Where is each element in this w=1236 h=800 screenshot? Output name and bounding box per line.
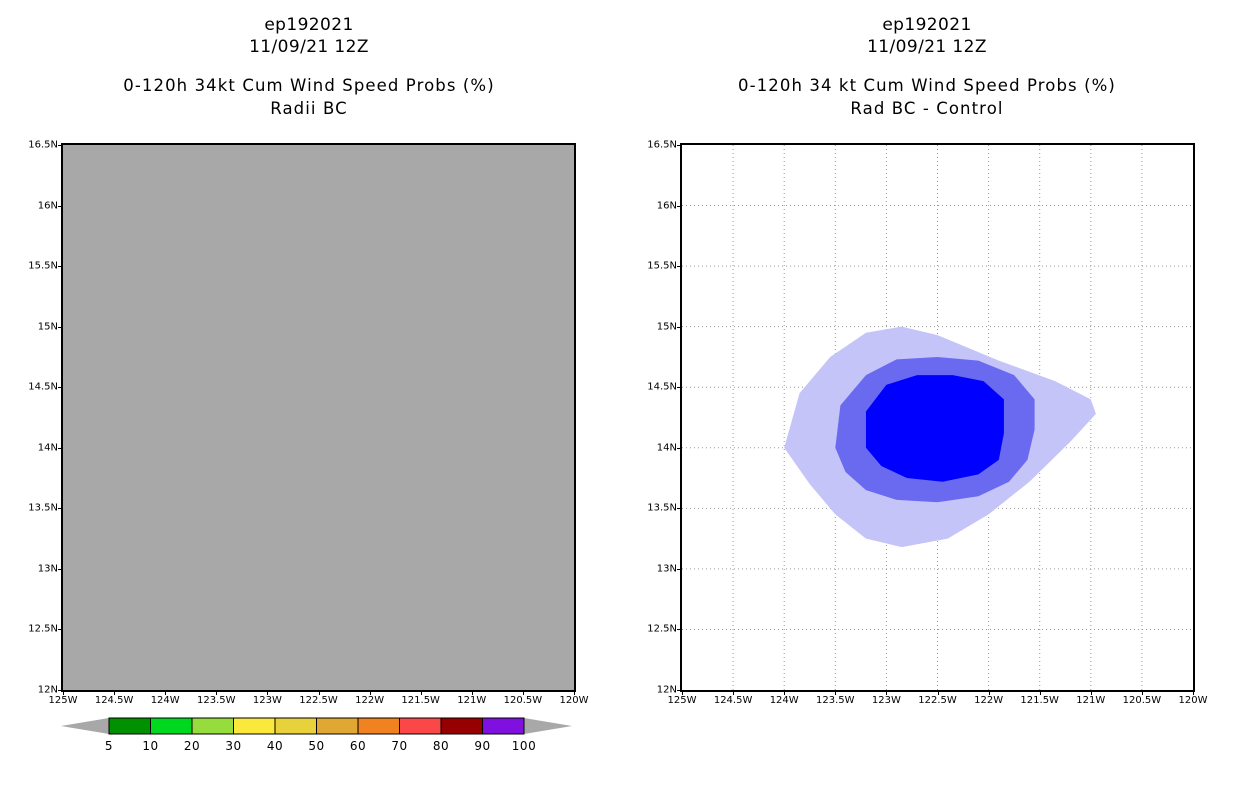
- colorbar-tick-label: 90: [474, 739, 490, 753]
- colorbar-tick-label: 10: [142, 739, 158, 753]
- y-axis-label: 14N: [38, 442, 58, 453]
- y-axis-tick: [677, 508, 682, 509]
- y-axis-tick: [677, 448, 682, 449]
- x-axis-label: 123.5W: [816, 695, 855, 706]
- x-axis-label: 124.5W: [95, 695, 134, 706]
- contour-region: [866, 375, 1004, 482]
- contour-layer-left: [63, 145, 574, 690]
- plot-title-right: 0-120h 34 kt Cum Wind Speed Probs (%): [618, 74, 1236, 97]
- x-axis-label: 120W: [1179, 695, 1208, 706]
- y-axis-label: 16N: [657, 200, 677, 211]
- y-axis-label: 13N: [38, 563, 58, 574]
- y-axis-tick: [677, 145, 682, 146]
- y-axis-tick: [677, 387, 682, 388]
- colorbar-cap-low: [61, 718, 109, 734]
- colorbar-tick-label: 100: [512, 739, 536, 753]
- colorbar-left-swatches: [61, 714, 572, 738]
- x-axis-label: 121.5W: [401, 695, 440, 706]
- colorbar-tick-label: 20: [184, 739, 200, 753]
- colorbar-swatch: [109, 718, 151, 734]
- y-axis-tick: [58, 508, 63, 509]
- y-axis-label: 12N: [657, 685, 677, 696]
- colorbar-swatch: [317, 718, 359, 734]
- y-axis-tick: [677, 206, 682, 207]
- x-axis-label: 121W: [457, 695, 486, 706]
- colorbar-swatch: [151, 718, 193, 734]
- y-axis-tick: [677, 327, 682, 328]
- y-axis-tick: [58, 266, 63, 267]
- y-axis-label: 12.5N: [647, 624, 677, 635]
- colorbar-swatch: [483, 718, 525, 734]
- x-axis-label: 125W: [49, 695, 78, 706]
- colorbar-tick-label: 50: [308, 739, 324, 753]
- x-axis-label: 124.5W: [714, 695, 753, 706]
- y-axis-label: 15.5N: [647, 261, 677, 272]
- colorbar-swatch: [275, 718, 317, 734]
- y-axis-label: 16.5N: [28, 140, 58, 151]
- colorbar-left-labels: 5102030405060708090100: [61, 738, 572, 756]
- x-axis-label: 123.5W: [197, 695, 236, 706]
- contour-layer-right: [682, 145, 1193, 690]
- colorbar-swatch: [192, 718, 234, 734]
- y-axis-label: 16N: [38, 200, 58, 211]
- colorbar-tick-label: 30: [225, 739, 241, 753]
- y-axis-label: 15.5N: [28, 261, 58, 272]
- y-axis-tick: [677, 266, 682, 267]
- x-axis-label: 123W: [253, 695, 282, 706]
- y-axis-tick: [58, 448, 63, 449]
- colorbar-cap-high: [524, 718, 572, 734]
- y-axis-label: 14.5N: [647, 382, 677, 393]
- storm-date-left: 11/09/21 12Z: [0, 36, 618, 58]
- plot-area-right: 12N12.5N13N13.5N14N14.5N15N15.5N16N16.5N…: [680, 143, 1195, 692]
- x-axis-label: 122.5W: [918, 695, 957, 706]
- y-axis-label: 13.5N: [28, 503, 58, 514]
- colorbar-swatch: [441, 718, 483, 734]
- y-axis-tick: [58, 145, 63, 146]
- x-axis-label: 125W: [668, 695, 697, 706]
- colorbar-left: 5102030405060708090100: [61, 714, 572, 760]
- y-axis-label: 13N: [657, 563, 677, 574]
- plot-subtitle-left: Radii BC: [0, 97, 618, 120]
- y-axis-label: 13.5N: [647, 503, 677, 514]
- x-axis-label: 123W: [872, 695, 901, 706]
- y-axis-tick: [677, 629, 682, 630]
- x-axis-label: 122.5W: [299, 695, 338, 706]
- panel-right-titles: ep192021 11/09/21 12Z 0-120h 34 kt Cum W…: [618, 0, 1236, 120]
- colorbar-tick-label: 80: [433, 739, 449, 753]
- storm-id-right: ep192021: [618, 14, 1236, 36]
- y-axis-tick: [677, 569, 682, 570]
- colorbar-swatch: [234, 718, 276, 734]
- colorbar-tick-label: 5: [105, 739, 113, 753]
- y-axis-tick: [58, 387, 63, 388]
- y-axis-label: 15N: [38, 321, 58, 332]
- x-axis-label: 120W: [560, 695, 589, 706]
- x-axis-label: 124W: [770, 695, 799, 706]
- x-axis-label: 122W: [355, 695, 384, 706]
- plot-box-right: 12N12.5N13N13.5N14N14.5N15N15.5N16N16.5N…: [680, 143, 1195, 692]
- x-axis-label: 120.5W: [504, 695, 543, 706]
- x-axis-label: 121W: [1076, 695, 1105, 706]
- panel-left-titles: ep192021 11/09/21 12Z 0-120h 34kt Cum Wi…: [0, 0, 618, 120]
- plot-title-left: 0-120h 34kt Cum Wind Speed Probs (%): [0, 74, 618, 97]
- storm-date-right: 11/09/21 12Z: [618, 36, 1236, 58]
- y-axis-label: 16.5N: [647, 140, 677, 151]
- panel-right: ep192021 11/09/21 12Z 0-120h 34 kt Cum W…: [618, 0, 1236, 800]
- colorbar-tick-label: 40: [267, 739, 283, 753]
- colorbar-tick-label: 60: [350, 739, 366, 753]
- y-axis-tick: [58, 327, 63, 328]
- y-axis-tick: [58, 629, 63, 630]
- x-axis-label: 120.5W: [1123, 695, 1162, 706]
- y-axis-label: 14N: [657, 442, 677, 453]
- storm-id-left: ep192021: [0, 14, 618, 36]
- y-axis-label: 12N: [38, 685, 58, 696]
- panel-left: ep192021 11/09/21 12Z 0-120h 34kt Cum Wi…: [0, 0, 618, 800]
- plot-area-left: 12N12.5N13N13.5N14N14.5N15N15.5N16N16.5N…: [61, 143, 576, 692]
- y-axis-label: 12.5N: [28, 624, 58, 635]
- x-axis-label: 124W: [151, 695, 180, 706]
- x-axis-label: 121.5W: [1020, 695, 1059, 706]
- colorbar-tick-label: 70: [391, 739, 407, 753]
- plot-box-left: 12N12.5N13N13.5N14N14.5N15N15.5N16N16.5N…: [61, 143, 576, 692]
- y-axis-tick: [58, 206, 63, 207]
- colorbar-swatch: [358, 718, 400, 734]
- x-axis-label: 122W: [974, 695, 1003, 706]
- y-axis-label: 15N: [657, 321, 677, 332]
- colorbar-swatch: [400, 718, 442, 734]
- y-axis-tick: [58, 569, 63, 570]
- plot-subtitle-right: Rad BC - Control: [618, 97, 1236, 120]
- y-axis-label: 14.5N: [28, 382, 58, 393]
